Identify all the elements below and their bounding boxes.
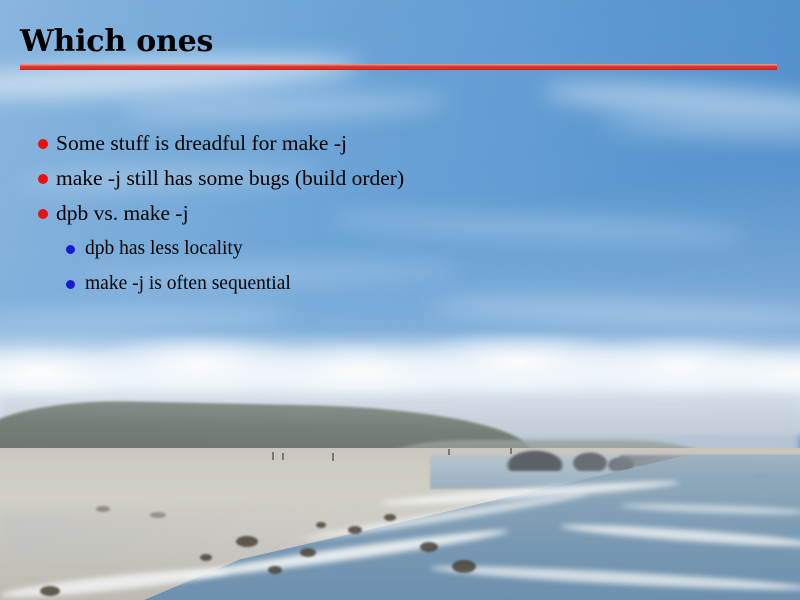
list-item: Some stuff is dreadful for make -j [0, 126, 800, 161]
blue-dot-bullet-icon [66, 280, 75, 289]
list-item-label: dpb vs. make -j [56, 201, 189, 225]
list-item-label: make -j still has some bugs (build order… [56, 166, 404, 190]
list-item: make -j still has some bugs (build order… [0, 161, 800, 196]
list-item: dpb has less locality [0, 231, 800, 266]
bullet-list: Some stuff is dreadful for make -j make … [0, 126, 800, 301]
title-divider-rule [20, 64, 777, 70]
red-dot-bullet-icon [38, 174, 48, 184]
red-dot-bullet-icon [38, 209, 48, 219]
list-item: dpb vs. make -j [0, 196, 800, 231]
list-item-label: Some stuff is dreadful for make -j [56, 131, 347, 155]
list-item-label: dpb has less locality [85, 238, 243, 259]
red-dot-bullet-icon [38, 139, 48, 149]
page-title: Which ones [20, 23, 213, 61]
blue-dot-bullet-icon [66, 245, 75, 254]
presentation-slide: Which ones Some stuff is dreadful for ma… [0, 0, 800, 600]
list-item-label: make -j is often sequential [85, 273, 291, 294]
slide-content: Which ones Some stuff is dreadful for ma… [0, 0, 800, 600]
list-item: make -j is often sequential [0, 266, 800, 301]
